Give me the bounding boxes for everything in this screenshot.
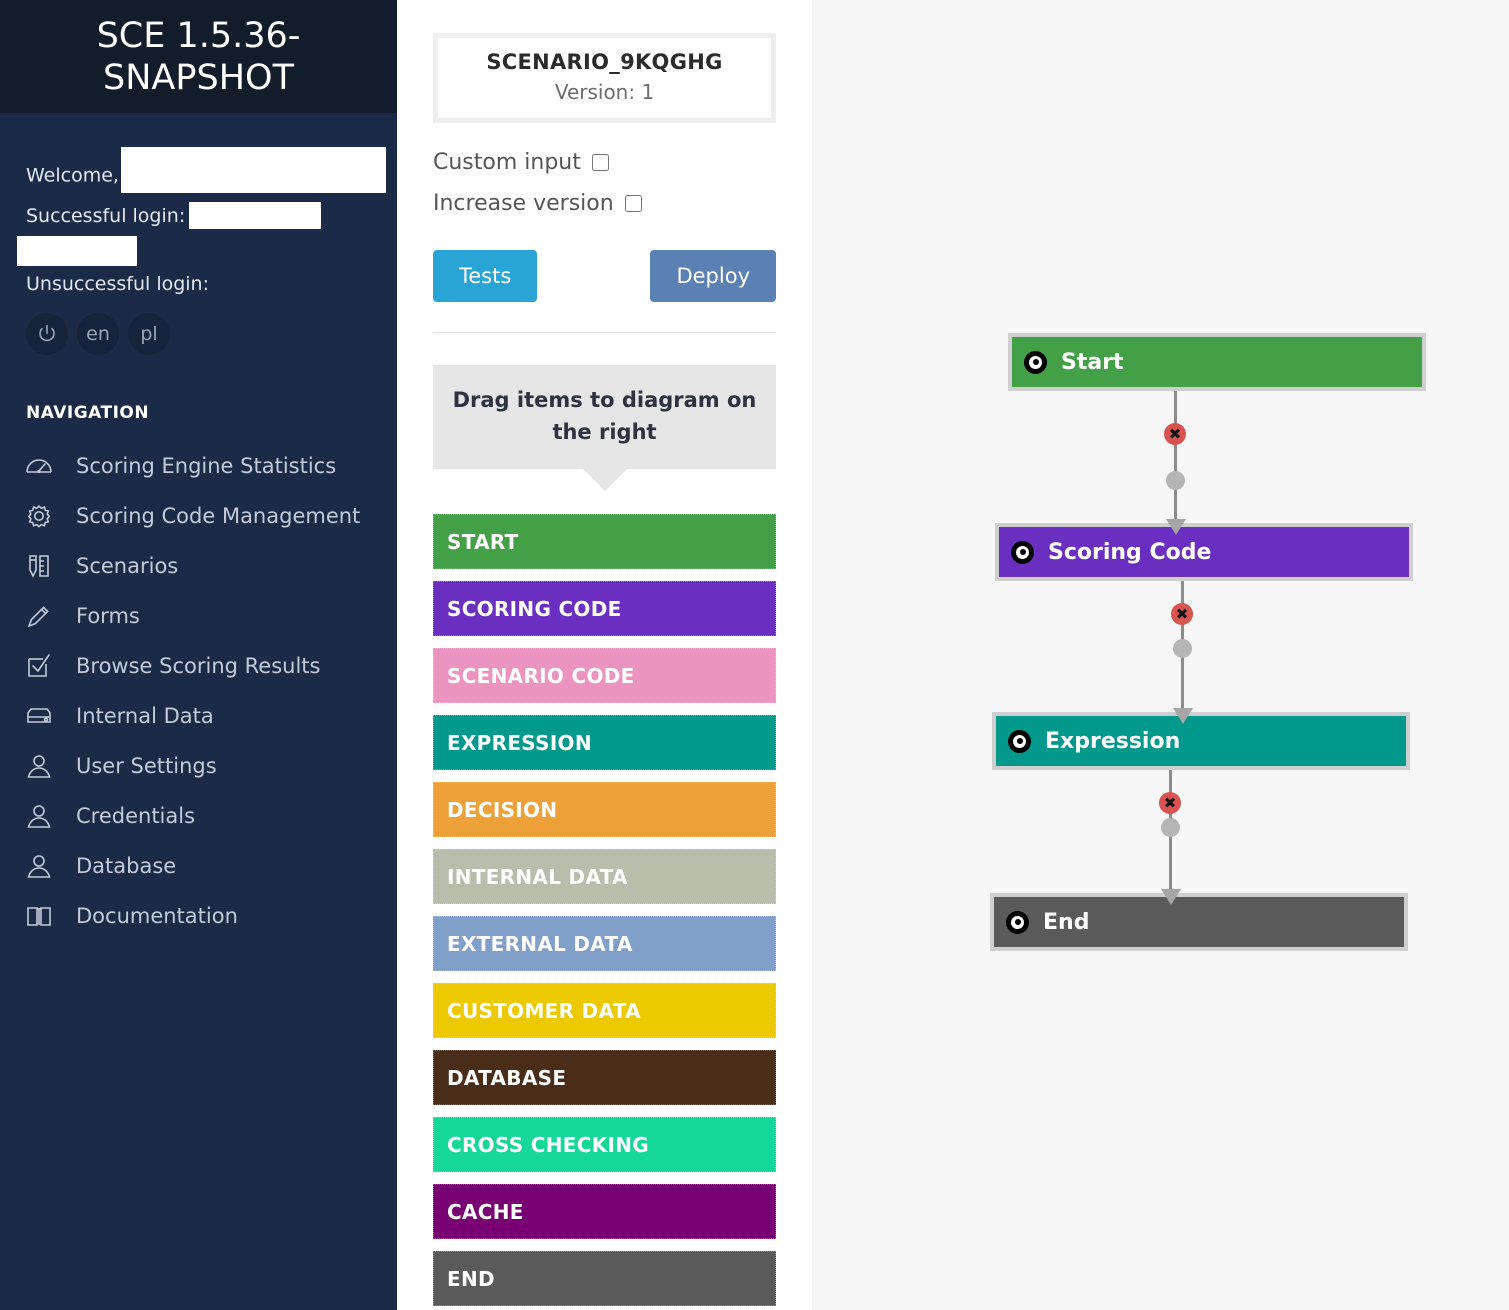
lang-en-button[interactable]: en (77, 313, 119, 355)
palette-item-label: CACHE (447, 1200, 524, 1224)
username-redacted (121, 147, 386, 193)
section-divider (433, 332, 776, 333)
gear-icon-glyph (25, 502, 53, 530)
scenario-diagram-canvas[interactable]: StartScoring CodeExpressionEnd✖✖✖ (812, 0, 1509, 1310)
user-icon-glyph (26, 853, 52, 879)
palette-item-cache[interactable]: CACHE (433, 1184, 776, 1239)
power-icon-glyph (36, 323, 58, 345)
palette-item-label: CROSS CHECKING (447, 1133, 649, 1157)
pencil-icon-glyph (26, 603, 52, 629)
palette-item-scenario-code[interactable]: SCENARIO CODE (433, 648, 776, 703)
scenario-name: SCENARIO_9KQGHG (444, 50, 765, 74)
scenario-header-inner: SCENARIO_9KQGHG Version: 1 (438, 38, 771, 118)
diagram-node-scoring-code[interactable]: Scoring Code (995, 523, 1413, 581)
sidebar-item-label: Forms (76, 601, 140, 630)
palette-item-decision[interactable]: DECISION (433, 782, 776, 837)
successful-login-row-continued (17, 233, 371, 267)
palette-item-label: EXTERNAL DATA (447, 932, 633, 956)
user-icon (22, 801, 56, 831)
node-palette: STARTSCORING CODESCENARIO CODEEXPRESSION… (433, 514, 776, 1306)
sidebar-item-label: Scoring Engine Statistics (76, 451, 336, 480)
ruler-pencil-icon (22, 551, 56, 581)
node-bullet-icon (1008, 730, 1031, 753)
scenario-editor-panel: SCENARIO_9KQGHG Version: 1 Custom input … (397, 0, 812, 1310)
diagram-node-label: End (1043, 910, 1089, 935)
custom-input-label: Custom input (433, 150, 581, 175)
edge-line[interactable] (1174, 391, 1177, 523)
palette-item-end[interactable]: END (433, 1251, 776, 1306)
user-icon (22, 851, 56, 881)
sidebar-item-label: User Settings (76, 751, 217, 780)
navigation-heading: NAVIGATION (26, 403, 397, 423)
welcome-row: Welcome, (26, 153, 371, 199)
welcome-label: Welcome, (26, 165, 119, 187)
palette-item-label: DATABASE (447, 1066, 566, 1090)
app-root: SCE 1.5.36-SNAPSHOT Welcome, Successful … (0, 0, 1509, 1310)
palette-item-cross-checking[interactable]: CROSS CHECKING (433, 1117, 776, 1172)
diagram-node-label: Scoring Code (1048, 540, 1211, 565)
diagram-node-label: Expression (1045, 729, 1180, 754)
sidebar-item-label: Credentials (76, 801, 195, 830)
increase-version-label: Increase version (433, 191, 614, 216)
sidebar-item-label: Browse Scoring Results (76, 651, 320, 680)
palette-item-label: DECISION (447, 798, 557, 822)
edge-arrowhead-icon (1161, 889, 1181, 905)
action-buttons: Tests Deploy (433, 250, 776, 302)
drive-icon-glyph (25, 706, 53, 726)
sidebar-item-label: Internal Data (76, 701, 214, 730)
sidebar-item-database[interactable]: Database (0, 841, 397, 891)
sidebar-item-label: Database (76, 851, 176, 880)
palette-item-customer-data[interactable]: CUSTOMER DATA (433, 983, 776, 1038)
successful-login-value-redacted (189, 202, 321, 229)
sidebar-header: SCE 1.5.36-SNAPSHOT (0, 0, 397, 113)
checkbox-icon (22, 651, 56, 681)
palette-item-label: EXPRESSION (447, 731, 592, 755)
edge-insert-handle[interactable] (1173, 639, 1192, 658)
palette-item-expression[interactable]: EXPRESSION (433, 715, 776, 770)
palette-item-label: INTERNAL DATA (447, 865, 628, 889)
sidebar-item-scoring-engine-statistics[interactable]: Scoring Engine Statistics (0, 441, 397, 491)
palette-item-internal-data[interactable]: INTERNAL DATA (433, 849, 776, 904)
successful-login-value-redacted-2 (17, 236, 137, 266)
session-actions: en pl (0, 301, 397, 355)
node-bullet-icon (1011, 541, 1034, 564)
scenario-header-box: SCENARIO_9KQGHG Version: 1 (433, 33, 776, 123)
power-icon[interactable] (26, 313, 68, 355)
user-icon-glyph (26, 753, 52, 779)
gauge-icon-glyph (25, 455, 53, 477)
diagram-node-end[interactable]: End (990, 893, 1408, 951)
edge-delete-icon[interactable]: ✖ (1164, 423, 1186, 445)
lang-pl-button[interactable]: pl (128, 313, 170, 355)
successful-login-row: Successful login: (26, 199, 371, 233)
edge-delete-icon[interactable]: ✖ (1171, 603, 1193, 625)
app-title: SCE 1.5.36-SNAPSHOT (20, 15, 377, 99)
drag-hint-tooltip: Drag items to diagram on the right (433, 365, 776, 469)
sidebar-item-documentation[interactable]: Documentation (0, 891, 397, 941)
palette-item-database[interactable]: DATABASE (433, 1050, 776, 1105)
edge-arrowhead-icon (1173, 708, 1193, 724)
checkbox-icon-glyph (26, 653, 52, 679)
palette-item-start[interactable]: START (433, 514, 776, 569)
palette-item-label: SCORING CODE (447, 597, 622, 621)
tests-button[interactable]: Tests (433, 250, 537, 302)
diagram-node-start[interactable]: Start (1008, 333, 1426, 391)
diagram-node-expression[interactable]: Expression (992, 712, 1410, 770)
scenario-version: Version: 1 (444, 80, 765, 104)
gauge-icon (22, 451, 56, 481)
user-info-block: Welcome, Successful login: Unsuccessful … (0, 113, 397, 301)
drive-icon (22, 701, 56, 731)
book-icon-glyph (25, 904, 53, 928)
gear-icon (22, 501, 56, 531)
edge-arrowhead-icon (1166, 519, 1186, 535)
custom-input-checkbox[interactable] (592, 154, 609, 171)
custom-input-row[interactable]: Custom input (433, 142, 812, 183)
user-icon-glyph (26, 803, 52, 829)
sidebar: SCE 1.5.36-SNAPSHOT Welcome, Successful … (0, 0, 397, 1310)
ruler-pencil-icon-glyph (26, 552, 52, 580)
unsuccessful-login-label: Unsuccessful login: (26, 273, 209, 295)
sidebar-item-user-settings[interactable]: User Settings (0, 741, 397, 791)
edge-delete-icon[interactable]: ✖ (1159, 792, 1181, 814)
sidebar-item-browse-scoring-results[interactable]: Browse Scoring Results (0, 641, 397, 691)
successful-login-label: Successful login: (26, 205, 185, 227)
sidebar-item-credentials[interactable]: Credentials (0, 791, 397, 841)
book-icon (22, 901, 56, 931)
user-icon (22, 751, 56, 781)
palette-item-label: START (447, 530, 519, 554)
edge-insert-handle[interactable] (1166, 471, 1185, 490)
node-bullet-icon (1006, 911, 1029, 934)
sidebar-item-label: Documentation (76, 901, 238, 930)
increase-version-row[interactable]: Increase version (433, 183, 812, 224)
sidebar-item-label: Scenarios (76, 551, 178, 580)
sidebar-item-forms[interactable]: Forms (0, 591, 397, 641)
sidebar-item-scenarios[interactable]: Scenarios (0, 541, 397, 591)
node-bullet-icon (1024, 351, 1047, 374)
diagram-node-label: Start (1061, 350, 1124, 375)
sidebar-item-scoring-code-management[interactable]: Scoring Code Management (0, 491, 397, 541)
palette-item-label: END (447, 1267, 495, 1291)
palette-item-scoring-code[interactable]: SCORING CODE (433, 581, 776, 636)
palette-item-label: SCENARIO CODE (447, 664, 635, 688)
unsuccessful-login-row: Unsuccessful login: (26, 267, 371, 301)
edge-insert-handle[interactable] (1161, 818, 1180, 837)
deploy-button[interactable]: Deploy (650, 250, 776, 302)
sidebar-item-label: Scoring Code Management (76, 501, 360, 530)
increase-version-checkbox[interactable] (625, 195, 642, 212)
navigation-list: Scoring Engine Statistics Scoring Code M… (0, 441, 397, 941)
pencil-icon (22, 601, 56, 631)
sidebar-item-internal-data[interactable]: Internal Data (0, 691, 397, 741)
palette-item-label: CUSTOMER DATA (447, 999, 641, 1023)
palette-item-external-data[interactable]: EXTERNAL DATA (433, 916, 776, 971)
